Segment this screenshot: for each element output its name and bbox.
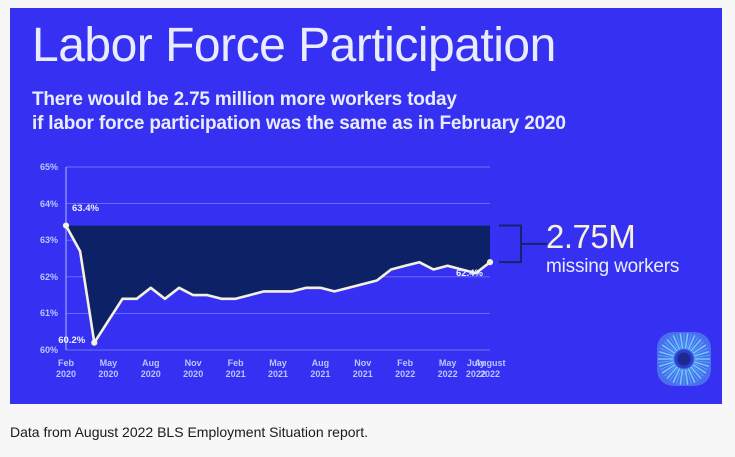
data-point-label: 63.4% xyxy=(72,203,99,214)
callout-value: 2.75M xyxy=(546,220,635,254)
x-axis-tick-label: Aug 2021 xyxy=(298,358,342,380)
participation-line-chart: 60%61%62%63%64%65%Feb 2020May 2020Aug 20… xyxy=(10,8,722,404)
radial-burst-logo-icon xyxy=(655,330,713,388)
x-axis-tick-label: August 2022 xyxy=(468,358,512,380)
x-axis-tick-label: Feb 2020 xyxy=(44,358,88,380)
x-axis-tick-label: May 2020 xyxy=(86,358,130,380)
data-point-label: 60.2% xyxy=(58,335,85,346)
x-axis-tick-label: Aug 2020 xyxy=(129,358,173,380)
source-caption: Data from August 2022 BLS Employment Sit… xyxy=(10,424,368,440)
x-axis-tick-label: Feb 2021 xyxy=(214,358,258,380)
y-axis-tick-label: 65% xyxy=(28,162,58,172)
data-point-label: 62.4% xyxy=(456,268,483,279)
screenshot-root: Labor Force Participation There would be… xyxy=(0,0,735,457)
callout-label: missing workers xyxy=(546,256,679,278)
y-axis-tick-label: 64% xyxy=(28,199,58,209)
chart-svg xyxy=(10,8,722,404)
y-axis-tick-label: 62% xyxy=(28,272,58,282)
x-axis-tick-label: Feb 2022 xyxy=(383,358,427,380)
y-axis-tick-label: 61% xyxy=(28,308,58,318)
x-axis-tick-label: Nov 2021 xyxy=(341,358,385,380)
y-axis-tick-label: 63% xyxy=(28,235,58,245)
x-axis-tick-label: Nov 2020 xyxy=(171,358,215,380)
x-axis-tick-label: May 2021 xyxy=(256,358,300,380)
y-axis-tick-label: 60% xyxy=(28,345,58,355)
infographic-card: Labor Force Participation There would be… xyxy=(10,8,722,404)
